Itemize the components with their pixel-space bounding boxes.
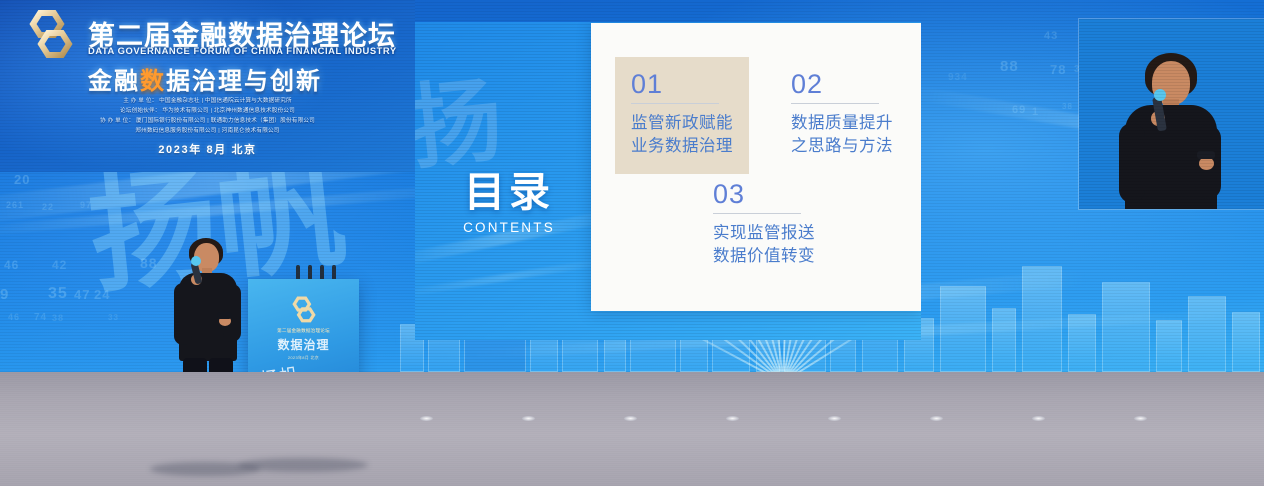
- backdrop-number: 88: [1000, 58, 1019, 75]
- backdrop-number: 22: [42, 202, 54, 212]
- speaker-closeup-figure: [1111, 53, 1231, 209]
- backdrop-number: 9: [0, 286, 9, 303]
- backdrop-number: 20: [14, 172, 30, 187]
- backdrop-number: 24: [94, 287, 110, 302]
- presenter-floor-shadow: [150, 462, 260, 476]
- microphone: [1152, 96, 1167, 131]
- backdrop-number: 47: [74, 287, 90, 302]
- toc-item-02: 02 数据质量提升 之思路与方法: [791, 71, 893, 158]
- microphone-head: [1154, 89, 1166, 101]
- toc-number: 03: [713, 181, 815, 208]
- backdrop-number: 88: [140, 255, 158, 271]
- backdrop-number: 38: [1062, 102, 1073, 111]
- backdrop-number: 38: [52, 313, 64, 323]
- floor-light: [726, 416, 739, 421]
- backdrop-number: 35: [48, 285, 68, 303]
- speaker-arm-left: [1119, 123, 1145, 203]
- backdrop-number: 42: [52, 258, 67, 272]
- toc-text-line1: 监管新政赋能: [631, 112, 733, 135]
- speaker-hand-right: [1199, 157, 1214, 170]
- backdrop-number: 43: [1044, 30, 1058, 42]
- organizer-line: 协 办 单 位： 厦门国际银行股份有限公司 | 联通助力信息技术（集团）股份有限…: [0, 116, 415, 124]
- toc-text-line1: 实现监管报送: [713, 222, 815, 245]
- light-streak: [0, 182, 479, 237]
- presenter-arm-left: [174, 283, 192, 345]
- event-subtitle-highlight: 数: [140, 68, 166, 95]
- toc-number: 01: [631, 71, 733, 98]
- slide-calligraphy: 扬: [415, 46, 508, 188]
- contents-heading-en: CONTENTS: [429, 220, 589, 235]
- speaker-torso: [1125, 105, 1217, 209]
- organizer-line: 主 办 单 位： 中国金融杂志社 | 中国信通院云计算与大数据研究所: [0, 96, 415, 104]
- podium-subtitle: 数据治理: [248, 336, 359, 353]
- podium-title: 第二届金融数据治理论坛: [248, 328, 359, 334]
- speaker-neck: [1163, 99, 1179, 111]
- backdrop-number: 69: [1012, 104, 1026, 116]
- backdrop-number: 33: [108, 313, 119, 322]
- backdrop-number: 934: [948, 72, 968, 83]
- floor-light: [420, 416, 433, 421]
- backdrop-number: 78: [1050, 62, 1066, 77]
- organizer-line: 郑州数码信息服务股份有限公司 | 河南昆仑技术有限公司: [0, 126, 415, 134]
- stage-floor: [0, 372, 1264, 486]
- toc-number: 02: [791, 71, 893, 98]
- floor-light: [930, 416, 943, 421]
- backdrop-number: 46: [8, 312, 20, 322]
- toc-item-01: 01 监管新政赋能 业务数据治理: [615, 57, 749, 174]
- speaker-head: [1152, 61, 1190, 105]
- presenter-clicker: [217, 312, 232, 319]
- toc-text-line2: 业务数据治理: [631, 135, 733, 158]
- toc-text-line1: 数据质量提升: [791, 112, 893, 135]
- event-date-location: 2023年 8月 北京: [0, 141, 415, 157]
- double-hexagon-logo-icon: [20, 9, 82, 61]
- speaker-hand-left: [1151, 111, 1165, 126]
- slide-contents-heading: 目录 CONTENTS: [429, 172, 589, 235]
- toc-divider: [631, 103, 719, 104]
- event-title-en: DATA GOVERNANCE FORUM OF CHINA FINANCIAL…: [88, 45, 397, 56]
- floor-light: [1134, 416, 1147, 421]
- event-banner: 第二届金融数据治理论坛 DATA GOVERNANCE FORUM OF CHI…: [0, 0, 415, 172]
- toc-item-03: 03 实现监管报送 数据价值转变: [713, 181, 815, 268]
- toc-text-line2: 数据价值转变: [713, 245, 815, 268]
- backdrop-number: 97: [80, 200, 92, 210]
- contents-heading-cn: 目录: [429, 172, 589, 213]
- toc-text-line2: 之思路与方法: [791, 135, 893, 158]
- podium-floor-shadow: [238, 458, 368, 472]
- floor-light: [1032, 416, 1045, 421]
- slide-content-card: 01 监管新政赋能 业务数据治理 02 数据质量提升 之思路与方法 03 实现监…: [591, 23, 921, 311]
- backdrop-number: 261: [6, 200, 24, 210]
- floor-light: [624, 416, 637, 421]
- speaker-hair: [1145, 53, 1197, 97]
- backdrop-number: 1: [1032, 106, 1039, 118]
- toc-divider: [713, 213, 801, 214]
- event-subtitle: 金融数据治理与创新: [88, 61, 322, 96]
- event-subtitle-suffix: 据治理与创新: [166, 68, 322, 95]
- toc-divider: [791, 103, 879, 104]
- backdrop-number: 46: [4, 258, 19, 272]
- presentation-slide: 扬 目录 CONTENTS 01 监管新政赋能 业务数据治理 02 数据质量提升…: [415, 22, 921, 340]
- speaker-video-inset: [1079, 19, 1264, 209]
- organizer-line: 论坛创始伙伴： 华为技术有限公司 | 北京神州数通信息技术股份公司: [0, 106, 415, 114]
- floor-light: [522, 416, 535, 421]
- handheld-microphone-head: [191, 256, 201, 266]
- podium-logo-icon: [287, 296, 321, 324]
- floor-light: [828, 416, 841, 421]
- event-subtitle-prefix: 金融: [88, 68, 140, 95]
- clicker-device: [1197, 151, 1215, 159]
- speaker-arm-right: [1195, 125, 1221, 199]
- backdrop-number: 74: [34, 312, 47, 323]
- conference-stage-screenshot: 扬帆: [0, 0, 1264, 486]
- podium-date: 2023年8月 北京: [248, 355, 359, 361]
